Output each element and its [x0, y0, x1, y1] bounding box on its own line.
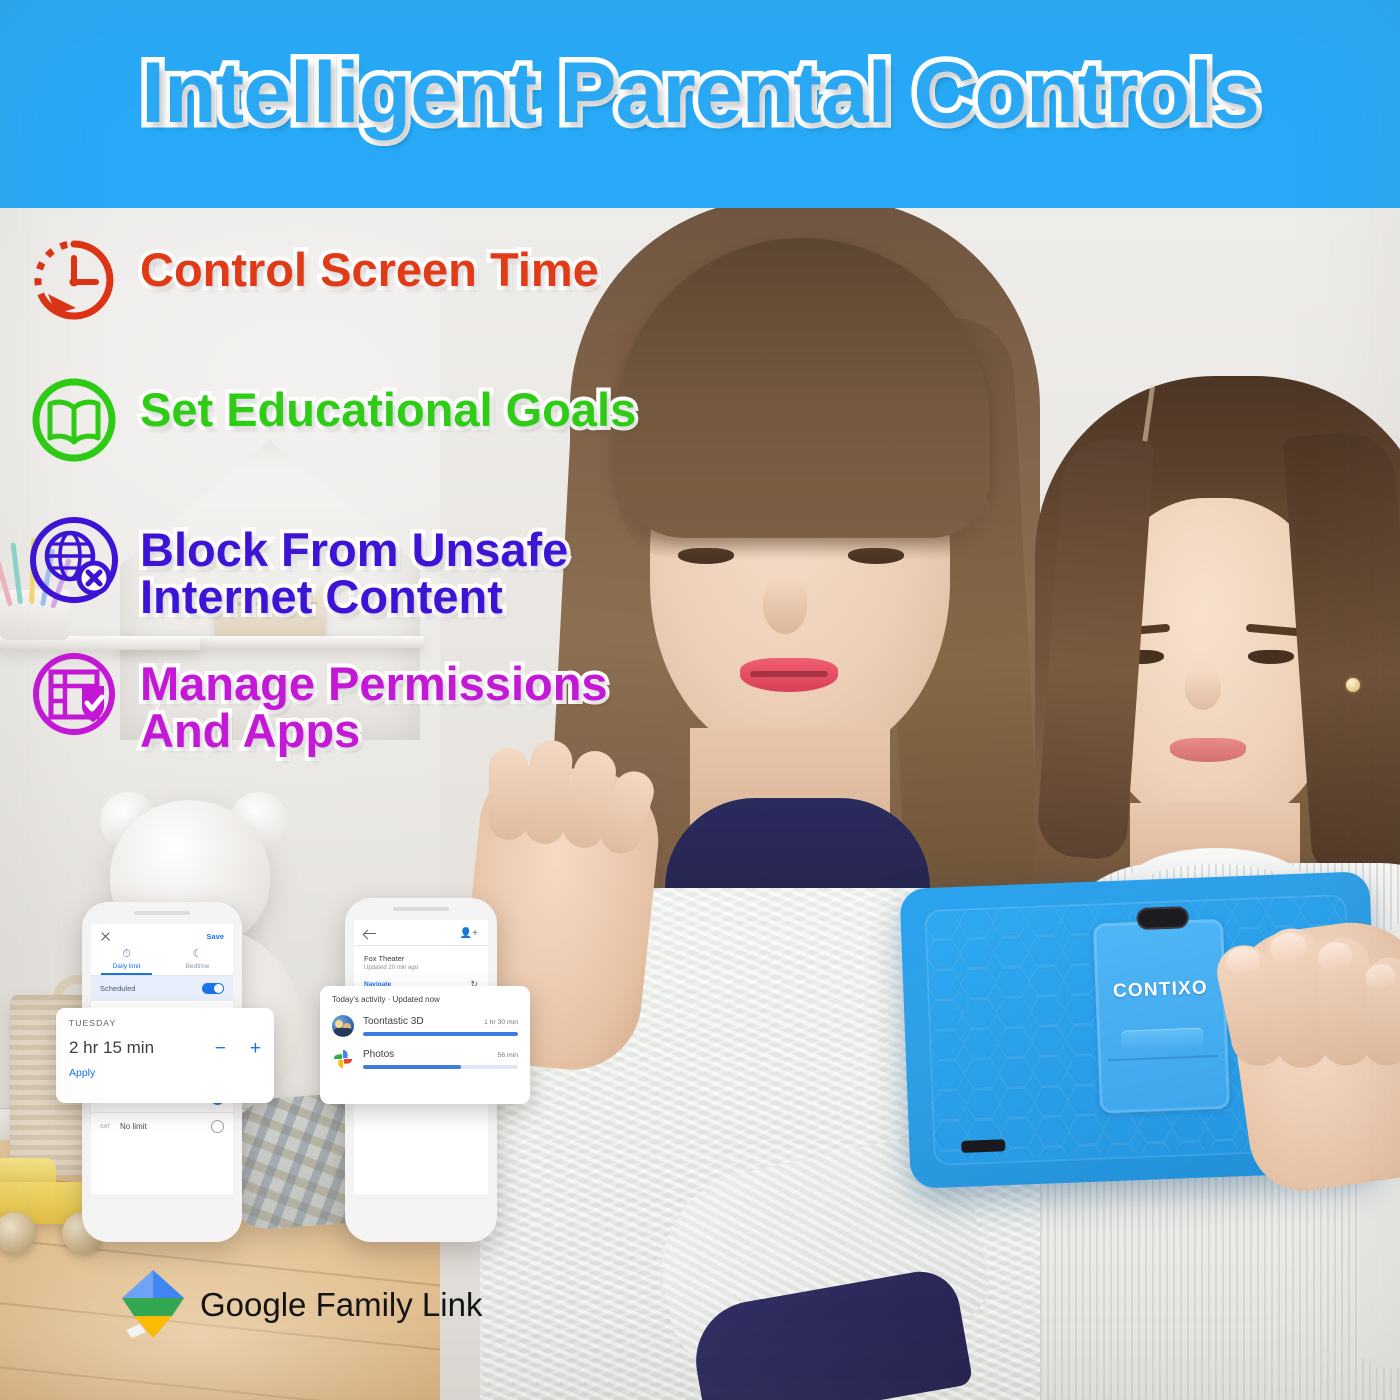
girl-lips: [1170, 738, 1246, 762]
increase-button[interactable]: +: [250, 1039, 261, 1058]
decrease-button[interactable]: −: [215, 1039, 226, 1058]
activity-title: Today's activity · Updated now: [332, 995, 518, 1004]
place-updated: Updated 20 min ago: [364, 965, 478, 971]
feature-set-educational-goals: Set Educational Goals: [26, 372, 706, 468]
scheduled-toggle[interactable]: [202, 983, 224, 994]
tab-label: Daily limit: [91, 963, 162, 970]
permissions-shield-circle-icon: [26, 646, 122, 742]
girl-earring: [1346, 678, 1360, 692]
day-heading: TUESDAY: [69, 1018, 261, 1028]
phone-earpiece: [393, 907, 449, 911]
save-button[interactable]: Save: [206, 932, 224, 941]
girl-nose: [1185, 668, 1221, 710]
list-item[interactable]: Toontastic 3D 1 hr 30 min: [332, 1015, 518, 1037]
progress-track: [363, 1065, 518, 1069]
feature-manage-permissions: Manage Permissions And Apps: [26, 646, 706, 754]
tab-bedtime[interactable]: ☾ Bedtime: [162, 946, 233, 975]
feature-label: Control Screen Time: [140, 232, 599, 293]
feature-control-screen-time: Control Screen Time: [26, 232, 706, 328]
camera-cutout-icon: [1136, 906, 1189, 930]
row-checkbox[interactable]: [211, 1120, 224, 1133]
progress-fill: [363, 1065, 461, 1069]
woman-nose: [763, 578, 807, 634]
tab-label: Bedtime: [162, 963, 233, 970]
google-photos-icon: [332, 1048, 354, 1070]
header-banner: Intelligent Parental Controls: [0, 0, 1400, 208]
table-row[interactable]: SAT No limit: [91, 1113, 233, 1140]
person-add-icon[interactable]: 👤+: [460, 928, 478, 939]
page-title: Intelligent Parental Controls: [0, 48, 1400, 138]
progress-track: [363, 1032, 518, 1036]
progress-fill: [363, 1032, 518, 1036]
poster-canvas: CONTIXO Intelligent Parental Controls: [0, 0, 1400, 1400]
app-time: 1 hr 30 min: [484, 1019, 518, 1026]
timer-icon: ⏱: [91, 949, 162, 960]
feature-block-unsafe-internet: Block From Unsafe Internet Content: [26, 512, 706, 620]
todays-activity-card: Today's activity · Updated now Toontasti…: [320, 986, 530, 1104]
speaker-cutout-left: [961, 1139, 1005, 1153]
limit-value: 2 hr 15 min: [69, 1038, 154, 1058]
phone-earpiece: [134, 911, 190, 915]
day-label: SAT: [100, 1124, 120, 1130]
tablet-kickstand: CONTIXO: [1093, 919, 1230, 1114]
feature-label: Block From Unsafe Internet Content: [140, 512, 568, 620]
phone1-tabs: ⏱ Daily limit ☾ Bedtime: [91, 946, 233, 975]
apply-button[interactable]: Apply: [69, 1067, 261, 1079]
scheduled-label: Scheduled: [100, 984, 135, 993]
kickstand-seam: [1108, 1055, 1218, 1061]
scheduled-row[interactable]: Scheduled: [91, 976, 233, 1001]
list-item[interactable]: Photos 56 min: [332, 1048, 518, 1070]
globe-block-circle-icon: [26, 512, 122, 608]
tab-daily-limit[interactable]: ⏱ Daily limit: [91, 946, 162, 975]
toontastic-icon: [332, 1015, 354, 1037]
open-book-circle-icon: [26, 372, 122, 468]
app-time: 56 min: [498, 1052, 518, 1059]
back-arrow-icon[interactable]: [364, 929, 376, 939]
phone1-appbar: Save: [91, 924, 233, 946]
family-link-label: Google Family Link: [200, 1286, 482, 1324]
moon-icon: ☾: [162, 949, 233, 960]
family-link-kite-icon: [120, 1268, 186, 1342]
kickstand-tab[interactable]: [1121, 1028, 1204, 1053]
tablet-brand-label: CONTIXO: [1095, 977, 1226, 1004]
feature-list: Control Screen Time Set Educational Goal…: [26, 232, 706, 780]
phone2-appbar: 👤+: [354, 920, 488, 945]
google-family-link-logo: Google Family Link: [120, 1268, 482, 1342]
tuesday-limit-card: TUESDAY 2 hr 15 min − + Apply: [56, 1008, 274, 1103]
limit-value: No limit: [120, 1122, 211, 1131]
place-name: Fox Theater: [364, 954, 478, 963]
feature-label: Set Educational Goals: [140, 372, 636, 433]
app-name: Photos: [363, 1049, 394, 1060]
feature-label: Manage Permissions And Apps: [140, 646, 608, 754]
close-icon[interactable]: [100, 931, 111, 942]
place-card: Fox Theater Updated 20 min ago: [354, 946, 488, 975]
clock-refresh-icon: [26, 232, 122, 328]
app-name: Toontastic 3D: [363, 1016, 424, 1027]
woman-lips: [740, 658, 838, 692]
